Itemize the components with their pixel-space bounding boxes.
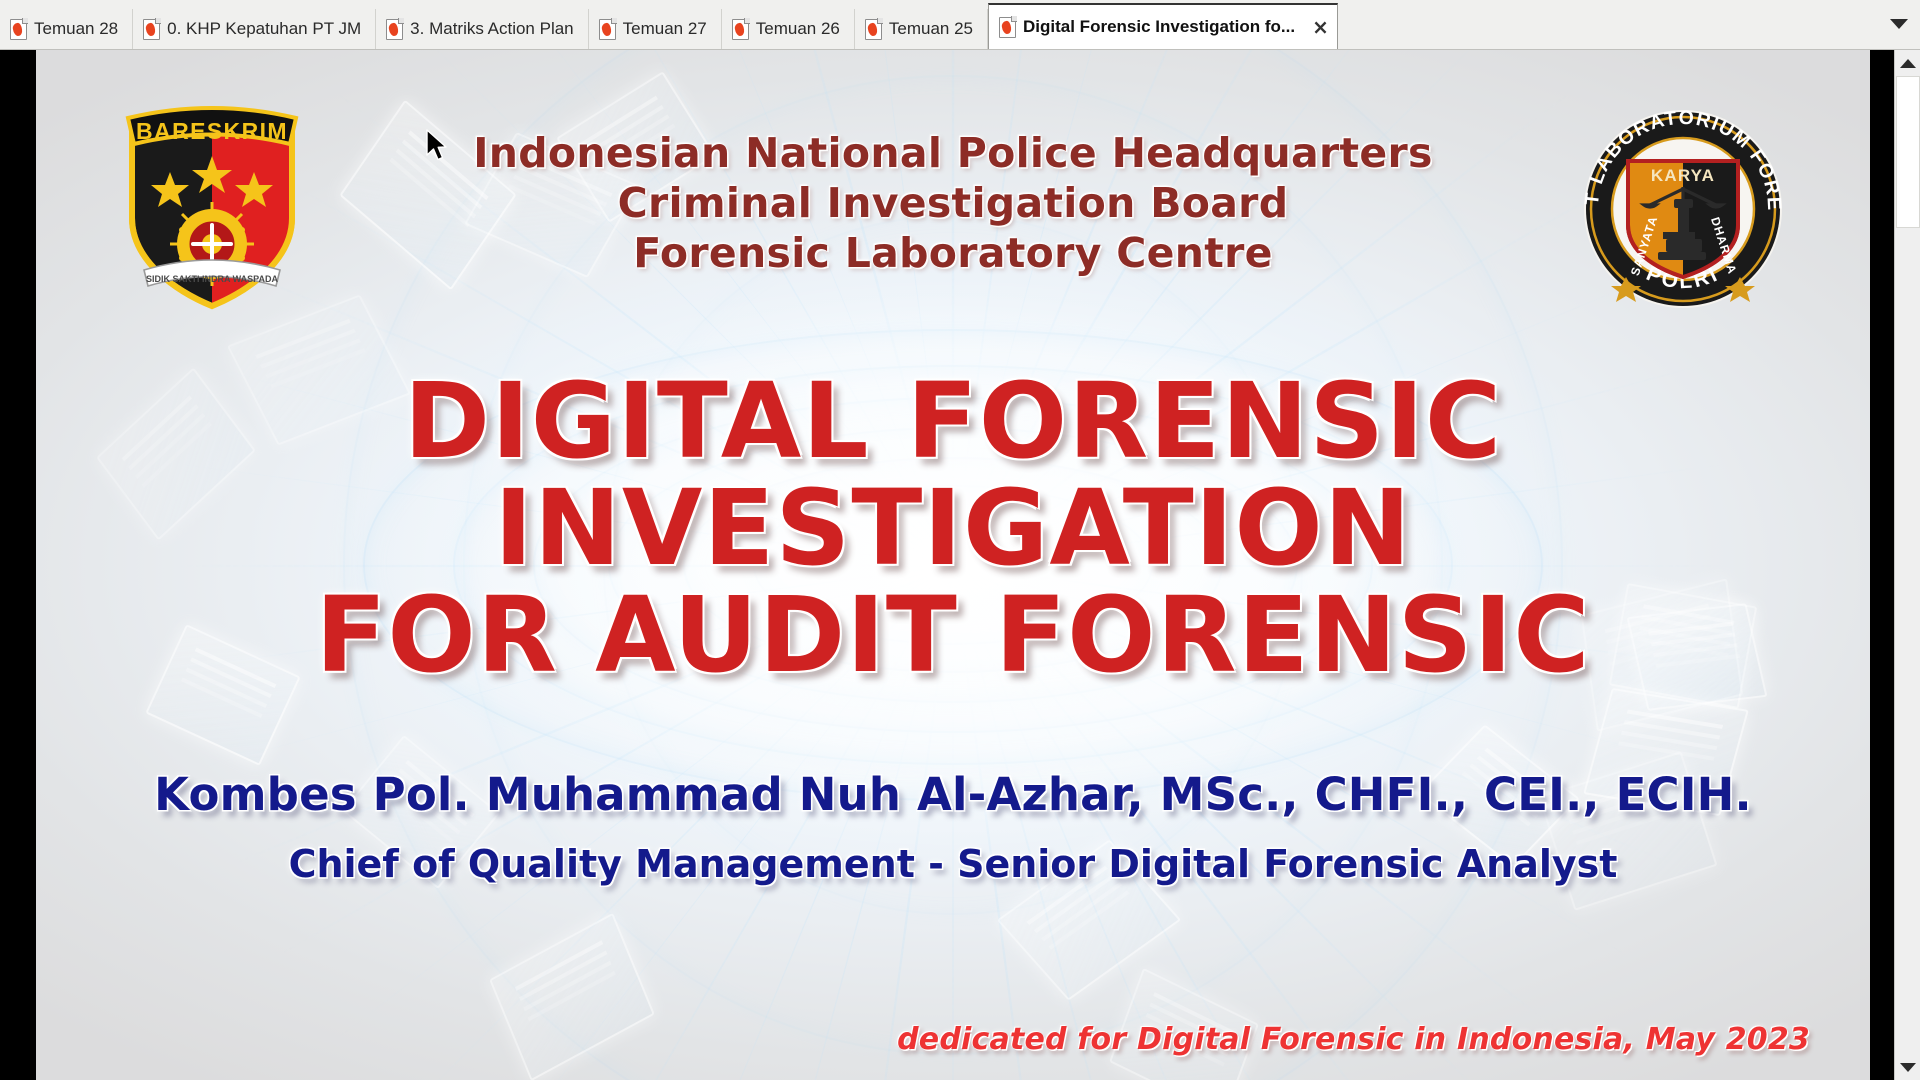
pdf-document-icon bbox=[732, 19, 749, 40]
pdf-document-icon bbox=[865, 19, 882, 40]
pdf-document-icon bbox=[143, 19, 160, 40]
pdf-document-icon bbox=[10, 19, 27, 40]
dedication-note: dedicated for Digital Forensic in Indone… bbox=[897, 1022, 1810, 1057]
tab-label: Digital Forensic Investigation fo... bbox=[1023, 17, 1295, 37]
scrollbar-thumb[interactable] bbox=[1896, 76, 1920, 228]
presentation-slide: BARESKRIM bbox=[36, 50, 1870, 1080]
tab-strip: Temuan 280. KHP Kepatuhan PT JM3. Matrik… bbox=[0, 1, 1338, 49]
tab-item[interactable]: Temuan 28 bbox=[0, 9, 133, 49]
tab-label: Temuan 26 bbox=[756, 19, 840, 39]
tab-label: Temuan 25 bbox=[889, 19, 973, 39]
tab-label: 3. Matriks Action Plan bbox=[410, 19, 573, 39]
document-viewer: BARESKRIM bbox=[0, 50, 1920, 1080]
close-icon[interactable]: × bbox=[1312, 17, 1329, 37]
chevron-down-icon bbox=[1890, 19, 1908, 29]
tab-active[interactable]: Digital Forensic Investigation fo...× bbox=[988, 3, 1338, 49]
tab-label: Temuan 28 bbox=[34, 19, 118, 39]
vertical-scrollbar[interactable] bbox=[1894, 50, 1920, 1080]
tab-item[interactable]: Temuan 27 bbox=[589, 9, 722, 49]
tab-item[interactable]: Temuan 26 bbox=[722, 9, 855, 49]
triangle-down-icon bbox=[1900, 1063, 1916, 1072]
organization-heading: Indonesian National Police Headquarters … bbox=[36, 128, 1870, 278]
triangle-up-icon bbox=[1900, 59, 1916, 68]
tab-item[interactable]: 3. Matriks Action Plan bbox=[376, 9, 588, 49]
org-line-1: Indonesian National Police Headquarters bbox=[36, 128, 1870, 178]
tab-label: 0. KHP Kepatuhan PT JM bbox=[167, 19, 361, 39]
pdf-document-icon bbox=[599, 19, 616, 40]
tab-label: Temuan 27 bbox=[623, 19, 707, 39]
pdf-document-icon bbox=[386, 19, 403, 40]
tab-item[interactable]: 0. KHP Kepatuhan PT JM bbox=[133, 9, 376, 49]
scroll-up-button[interactable] bbox=[1895, 50, 1920, 76]
org-line-3: Forensic Laboratory Centre bbox=[36, 228, 1870, 278]
tab-list-dropdown-button[interactable] bbox=[1878, 0, 1920, 48]
title-line-1: DIGITAL FORENSIC INVESTIGATION bbox=[36, 368, 1870, 582]
browser-tab-bar: Temuan 280. KHP Kepatuhan PT JM3. Matrik… bbox=[0, 0, 1920, 50]
scroll-down-button[interactable] bbox=[1895, 1054, 1920, 1080]
title-line-2: FOR AUDIT FORENSIC bbox=[36, 582, 1870, 689]
presenter-role: Chief of Quality Management - Senior Dig… bbox=[36, 842, 1870, 886]
org-line-2: Criminal Investigation Board bbox=[36, 178, 1870, 228]
pdf-document-icon bbox=[999, 17, 1016, 38]
presenter-name: Kombes Pol. Muhammad Nuh Al-Azhar, MSc.,… bbox=[36, 768, 1870, 821]
page-title: DIGITAL FORENSIC INVESTIGATION FOR AUDIT… bbox=[36, 368, 1870, 689]
tab-item[interactable]: Temuan 25 bbox=[855, 9, 988, 49]
